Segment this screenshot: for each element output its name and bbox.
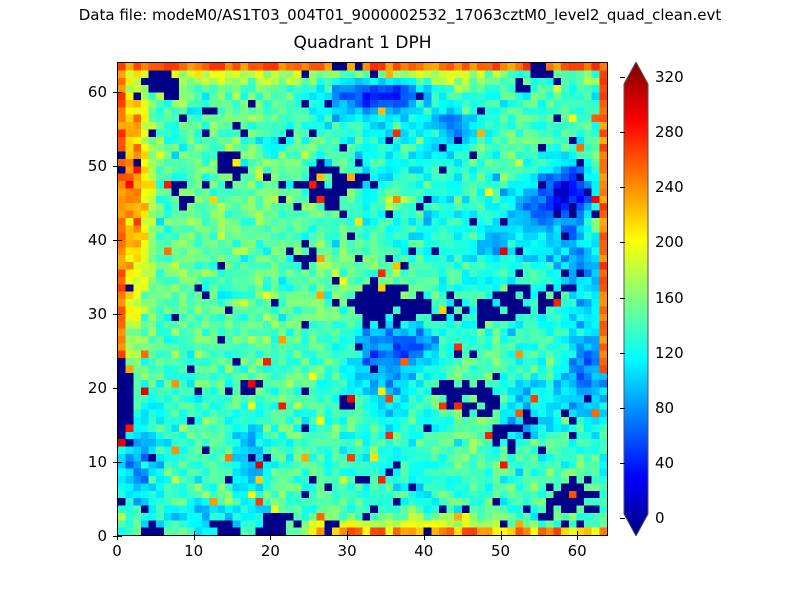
colorbar-tick-mark [620, 353, 625, 354]
x-tick-mark-inner [424, 531, 425, 535]
x-tick-mark-inner [347, 531, 348, 535]
y-tick-mark [113, 240, 117, 241]
x-tick-label: 20 [240, 543, 300, 559]
colorbar-tick-label: 40 [655, 455, 674, 471]
y-tick-mark [113, 166, 117, 167]
y-tick-mark-inner [118, 166, 122, 167]
y-tick-label: 40 [47, 232, 107, 248]
y-tick-label: 30 [47, 306, 107, 322]
x-tick-label: 40 [394, 543, 454, 559]
colorbar-tick-mark [620, 463, 625, 464]
y-tick-mark [113, 92, 117, 93]
y-tick-mark-inner [118, 388, 122, 389]
colorbar-tick-mark [620, 242, 625, 243]
colorbar-tick-mark [620, 408, 625, 409]
x-tick-label: 0 [87, 543, 147, 559]
y-tick-mark-inner [118, 462, 122, 463]
x-tick-mark [501, 536, 502, 540]
figure-canvas: Data file: modeM0/AS1T03_004T01_90000025… [0, 0, 800, 600]
y-tick-mark-inner [118, 92, 122, 93]
y-tick-mark [113, 462, 117, 463]
x-tick-mark-inner [501, 531, 502, 535]
x-tick-mark-inner [194, 531, 195, 535]
y-tick-label: 60 [47, 84, 107, 100]
colorbar-tick-label: 80 [655, 400, 674, 416]
y-tick-label: 0 [47, 528, 107, 544]
colorbar-tick-label: 200 [655, 234, 684, 250]
page-title: Quadrant 1 DPH [117, 33, 608, 53]
colorbar-gradient [623, 62, 649, 536]
colorbar-tick-label: 160 [655, 290, 684, 306]
x-tick-mark [270, 536, 271, 540]
y-tick-label: 10 [47, 454, 107, 470]
y-tick-mark-inner [118, 314, 122, 315]
x-tick-label: 10 [164, 543, 224, 559]
colorbar-tick-mark [620, 518, 625, 519]
colorbar-tick-label: 320 [655, 69, 684, 85]
x-tick-label: 30 [317, 543, 377, 559]
x-tick-mark [194, 536, 195, 540]
colorbar-tick-label: 240 [655, 179, 684, 195]
x-tick-mark [347, 536, 348, 540]
heatmap-axes[interactable] [117, 62, 608, 536]
x-tick-mark-inner [577, 531, 578, 535]
x-tick-mark [577, 536, 578, 540]
colorbar-tick-mark [620, 132, 625, 133]
x-tick-label: 50 [471, 543, 531, 559]
colorbar-tick-mark [620, 187, 625, 188]
x-tick-mark [424, 536, 425, 540]
colorbar-tick-mark [620, 298, 625, 299]
x-tick-mark-inner [270, 531, 271, 535]
x-tick-label: 60 [547, 543, 607, 559]
y-tick-mark [113, 314, 117, 315]
y-tick-label: 20 [47, 380, 107, 396]
dph-heatmap-image[interactable] [118, 63, 607, 535]
y-tick-label: 50 [47, 158, 107, 174]
colorbar-tick-label: 120 [655, 345, 684, 361]
colorbar-tick-mark [620, 77, 625, 78]
y-tick-mark-inner [118, 536, 122, 537]
y-tick-mark-inner [118, 240, 122, 241]
x-tick-mark-inner [117, 531, 118, 535]
colorbar-tick-label: 280 [655, 124, 684, 140]
y-tick-mark [113, 536, 117, 537]
data-file-title: Data file: modeM0/AS1T03_004T01_90000025… [0, 6, 800, 24]
colorbar[interactable] [623, 62, 649, 536]
y-tick-mark [113, 388, 117, 389]
colorbar-tick-label: 0 [655, 510, 665, 526]
